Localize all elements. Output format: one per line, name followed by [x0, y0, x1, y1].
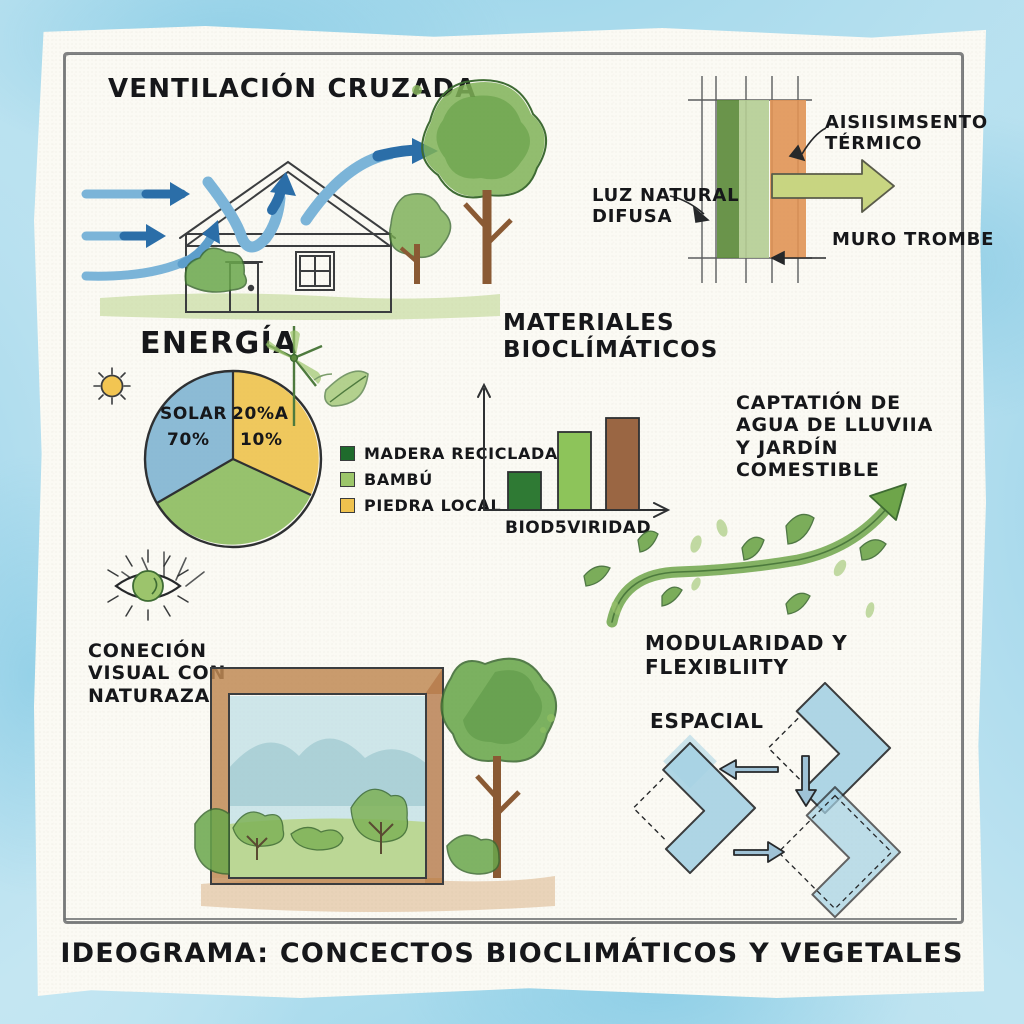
water-title: CAPTATIÓN DE AGUA DE LLUVIIA Y JARDÍN CO…	[736, 392, 951, 482]
growth-arrow-diagram	[570, 470, 910, 650]
pie-label-solar: SOLAR	[160, 404, 227, 424]
legend-swatch-madera	[340, 446, 355, 461]
tree-icon	[395, 78, 575, 308]
flow-arrow-right	[734, 842, 784, 862]
modularity-title: MODULARIDAD Y FLEXIBLIITY	[645, 632, 875, 679]
modularity-diagram	[630, 690, 960, 930]
module-shape	[760, 683, 890, 813]
bar-madera	[508, 472, 541, 510]
eye-icon	[100, 548, 196, 628]
landscape-window-illustration	[195, 628, 565, 928]
bush-icon	[178, 232, 268, 302]
ideogram-canvas: VENTILACIÓN CRUZADA	[0, 0, 1024, 1024]
trombe-wall-label: MURO TROMBE	[832, 229, 994, 250]
materials-title: MATERIALES BIOCLÍMÁTICOS	[503, 310, 703, 364]
pie-value-solar: 70%	[167, 430, 210, 450]
flow-arrow-left	[720, 760, 778, 779]
legend-swatch-piedra	[340, 498, 355, 513]
wind-turbine-icon	[260, 330, 370, 440]
module-shape	[770, 787, 900, 917]
trombe-light-label: LUZ NATURAL DIFUSA	[592, 185, 742, 227]
page-caption: IDEOGRAMA: CONCECTOS BIOCLIMÁTICOS Y VEG…	[0, 938, 1024, 970]
sun-icon	[92, 366, 132, 406]
legend-swatch-bambu	[340, 472, 355, 487]
legend-label-bambu: BAMBÚ	[364, 470, 433, 489]
trombe-insulation-label: AISIISIMSENTO TÉRMICO	[825, 112, 995, 154]
